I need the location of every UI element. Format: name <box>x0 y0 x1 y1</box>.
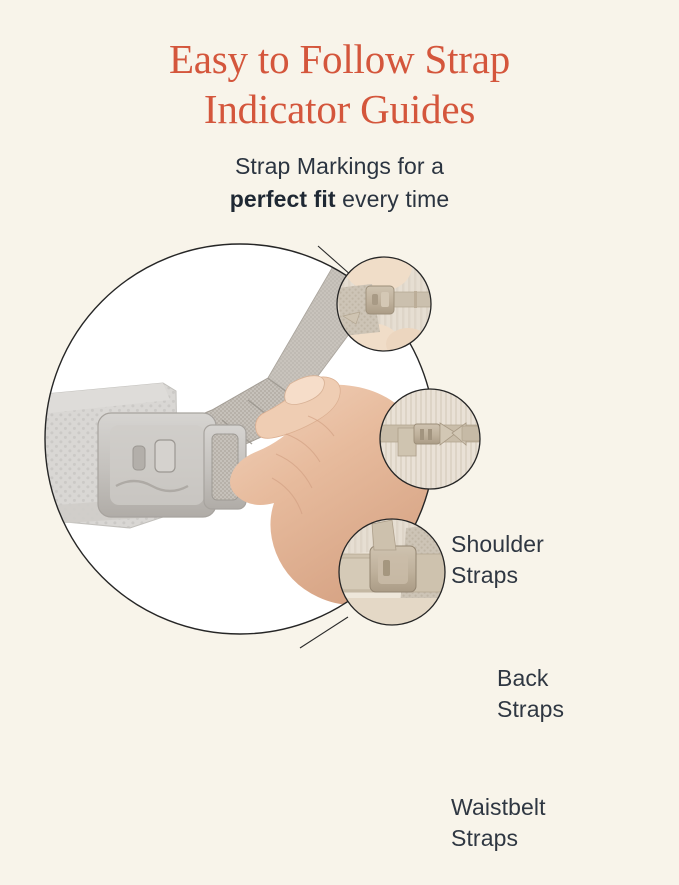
callout-back-line2: Straps <box>497 694 564 725</box>
page-subtitle-emphasis: perfect fit <box>230 186 336 212</box>
illustration-canvas <box>0 228 679 679</box>
callout-back-line1: Back <box>497 665 549 691</box>
page-subtitle-line1: Strap Markings for a <box>235 153 444 179</box>
callout-label-shoulder: Shoulder Straps <box>451 498 544 622</box>
callout-label-back: Back Straps <box>497 632 564 756</box>
page-subtitle: Strap Markings for a perfect fit every t… <box>0 150 679 216</box>
page-subtitle-line2: perfect fit every time <box>0 183 679 216</box>
page-subtitle-line2-rest: every time <box>336 186 450 212</box>
callout-label-waistbelt: Waistbelt Straps <box>451 761 546 885</box>
page-title-line2: Indicator Guides <box>0 84 679 134</box>
infographic-page: Easy to Follow Strap Indicator Guides St… <box>0 0 679 679</box>
strap-illustration-figure: Shoulder Straps Back Straps Waistbelt St… <box>0 228 679 679</box>
waistbelt-straps-circle <box>339 519 445 628</box>
page-title: Easy to Follow Strap Indicator Guides <box>0 34 679 134</box>
main-buckle <box>98 413 246 517</box>
callout-waist-line2: Straps <box>451 823 546 854</box>
back-straps-circle <box>380 389 480 489</box>
callout-waist-line1: Waistbelt <box>451 794 546 820</box>
callout-shoulder-line1: Shoulder <box>451 531 544 557</box>
callout-shoulder-line2: Straps <box>451 560 544 591</box>
page-title-line1: Easy to Follow Strap <box>169 36 510 82</box>
